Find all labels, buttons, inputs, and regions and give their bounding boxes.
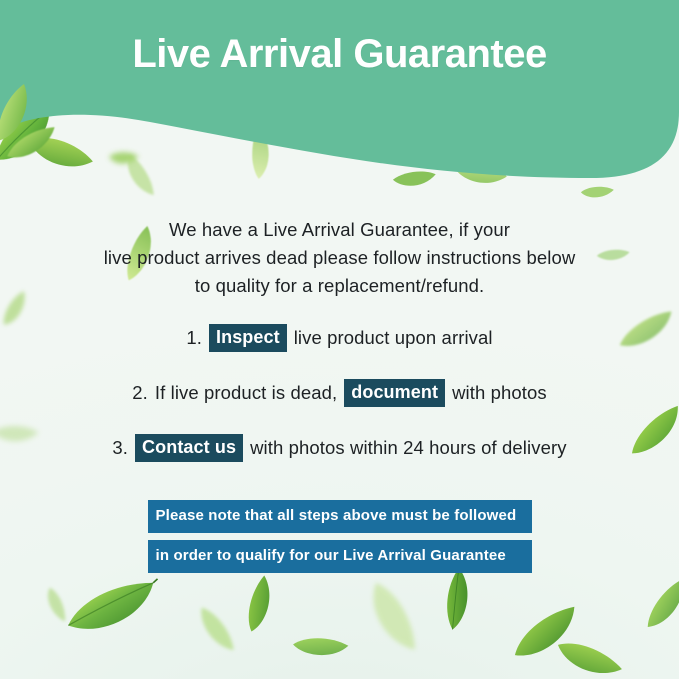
page-title: Live Arrival Guarantee xyxy=(0,31,679,77)
poster-canvas: Live Arrival Guarantee We have a Live Ar… xyxy=(0,0,679,679)
intro-line-3: to quality for a replacement/refund. xyxy=(70,272,610,300)
step-item-1: 1. Inspect live product upon arrival xyxy=(0,320,679,356)
intro-paragraph: We have a Live Arrival Guarantee, if you… xyxy=(70,216,610,300)
step-number: 1. xyxy=(186,327,202,349)
step-highlight-inspect[interactable]: Inspect xyxy=(209,324,287,352)
step-highlight-contact-us[interactable]: Contact us xyxy=(135,434,243,462)
step-highlight-document[interactable]: document xyxy=(344,379,445,407)
step-number: 3. xyxy=(112,437,128,459)
footer-note-line-2: in order to qualify for our Live Arrival… xyxy=(148,540,532,573)
footer-note-line-1: Please note that all steps above must be… xyxy=(148,500,532,533)
step-item-3: 3. Contact us with photos within 24 hour… xyxy=(0,430,679,466)
steps-list: 1. Inspect live product upon arrival 2. … xyxy=(0,320,679,485)
step-text: with photos within 24 hours of delivery xyxy=(250,437,567,459)
intro-line-2: live product arrives dead please follow … xyxy=(70,244,610,272)
step-lead-text: If live product is dead, xyxy=(155,382,337,404)
step-text: with photos xyxy=(452,382,547,404)
footer-note: Please note that all steps above must be… xyxy=(148,500,532,573)
step-item-2: 2. If live product is dead, document wit… xyxy=(0,375,679,411)
step-number: 2. xyxy=(132,382,148,404)
content-area: Live Arrival Guarantee We have a Live Ar… xyxy=(0,0,679,679)
intro-line-1: We have a Live Arrival Guarantee, if you… xyxy=(70,216,610,244)
step-text: live product upon arrival xyxy=(294,327,493,349)
